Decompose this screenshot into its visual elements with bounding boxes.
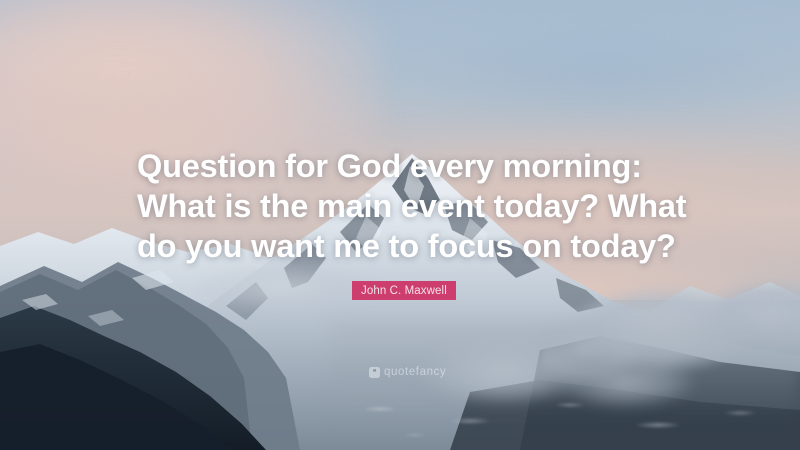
author-badge[interactable]: John C. Maxwell	[352, 281, 456, 300]
watermark-brand-label: quotefancy	[384, 366, 446, 378]
quotefancy-watermark[interactable]: ❝ quotefancy	[369, 366, 446, 378]
quote-line-3: do you want me to focus on today?	[137, 226, 677, 266]
author-name: John C. Maxwell	[361, 285, 447, 297]
quote-line-2: What is the main event today? What	[137, 186, 677, 226]
quote-text-block: Question for God every morning: What is …	[137, 146, 677, 266]
quote-image-canvas: Question for God every morning: What is …	[0, 0, 800, 450]
quote-mark-icon: ❝	[369, 367, 380, 378]
quote-line-1: Question for God every morning:	[137, 146, 677, 186]
valley-snow-detail	[340, 395, 800, 450]
